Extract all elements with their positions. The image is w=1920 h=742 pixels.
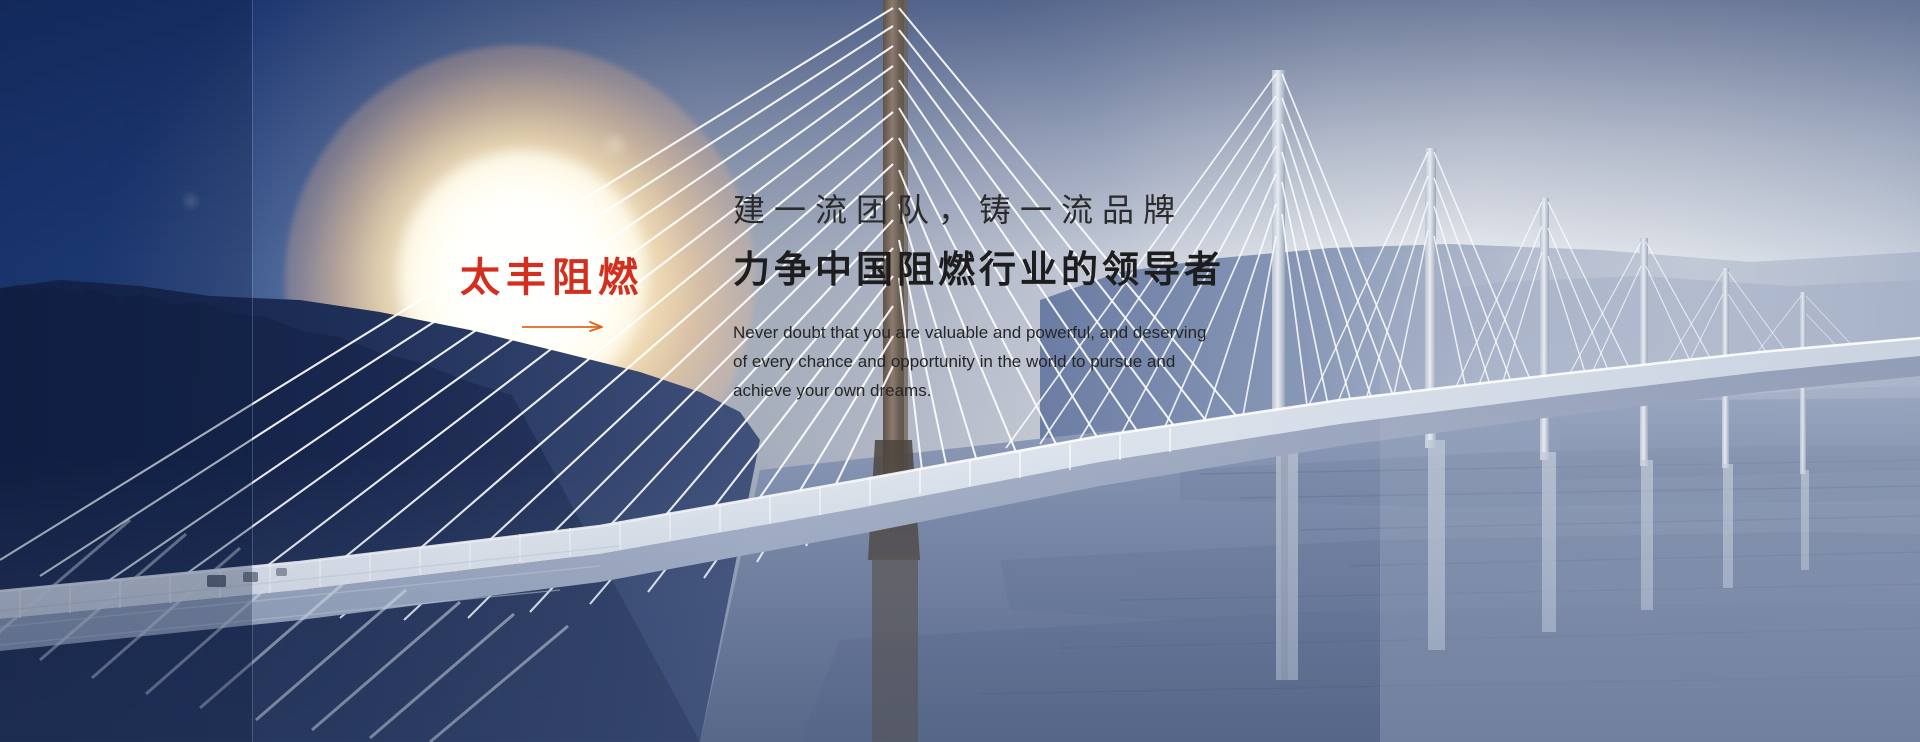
paragraph-line-3: achieve your own dreams.: [733, 376, 1313, 405]
hero-content: 太丰阻燃 建一流团队，铸一流品牌 力争中国阻燃行业的领导者 Never doub…: [0, 0, 1920, 742]
paragraph-line-2: of every chance and opportunity in the w…: [733, 347, 1313, 376]
headline-line-1: 建一流团队，铸一流品牌: [733, 190, 1473, 230]
brand-logo[interactable]: 太丰阻燃: [460, 258, 660, 332]
headline-line-2: 力争中国阻燃行业的领导者: [733, 248, 1473, 292]
right-arrow-icon: [522, 320, 610, 332]
headline-block: 建一流团队，铸一流品牌 力争中国阻燃行业的领导者 Never doubt tha…: [733, 190, 1473, 405]
hero-banner: 太丰阻燃 建一流团队，铸一流品牌 力争中国阻燃行业的领导者 Never doub…: [0, 0, 1920, 742]
paragraph-line-1: Never doubt that you are valuable and po…: [733, 318, 1313, 347]
brand-logo-text: 太丰阻燃: [460, 258, 660, 298]
hero-paragraph: Never doubt that you are valuable and po…: [733, 318, 1313, 405]
